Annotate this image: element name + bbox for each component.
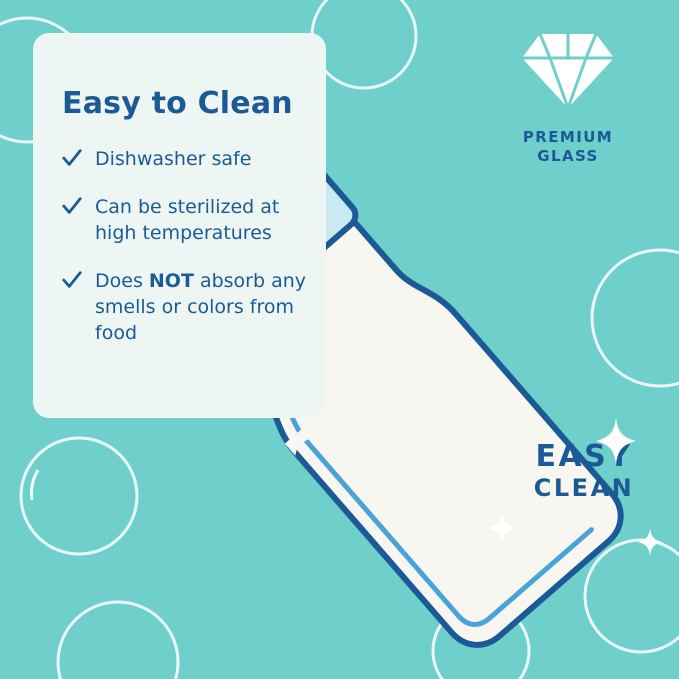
feature-list: Dishwasher safe Can be sterilized at hig… <box>61 146 311 368</box>
diamond-icon <box>508 28 628 116</box>
page-title: Easy to Clean <box>62 86 293 121</box>
list-item: Dishwasher safe <box>61 146 311 172</box>
list-item: Does NOT absorb any smells or colors fro… <box>61 268 311 346</box>
poster-canvas: Easy to Clean Dishwasher safe Can be ste… <box>0 0 679 679</box>
premium-label-line2: GLASS <box>508 147 628 166</box>
premium-label-line1: PREMIUM <box>508 128 628 147</box>
check-icon <box>61 147 83 169</box>
sparkle-icon <box>488 512 516 544</box>
sparkle-icon <box>596 418 636 464</box>
list-item-label-bold: NOT <box>149 270 194 292</box>
sparkle-icon <box>638 528 662 556</box>
check-icon <box>61 195 83 217</box>
check-icon <box>61 269 83 291</box>
list-item-label: Can be sterilized at high temperatures <box>95 196 279 244</box>
easy-clean-line2: CLEAN <box>520 474 648 502</box>
list-item: Can be sterilized at high temperatures <box>61 194 311 246</box>
list-item-label: Dishwasher safe <box>95 148 251 170</box>
info-card: Easy to Clean Dishwasher safe Can be ste… <box>33 33 326 418</box>
list-item-label-pre: Does <box>95 270 149 292</box>
premium-glass-badge: PREMIUM GLASS <box>508 28 628 166</box>
